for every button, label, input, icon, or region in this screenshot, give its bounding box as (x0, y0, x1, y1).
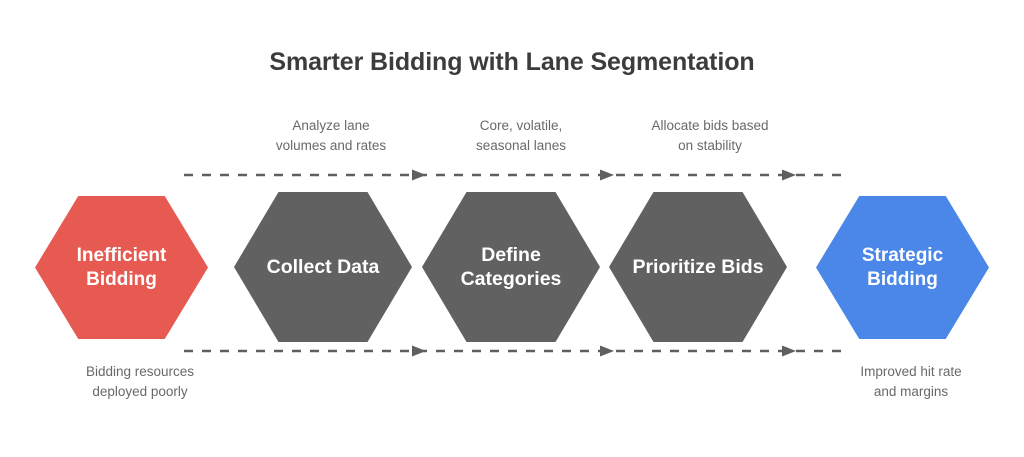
node-label: Define Categories (455, 243, 568, 291)
page-title: Smarter Bidding with Lane Segmentation (0, 48, 1024, 77)
node-label: Prioritize Bids (626, 255, 769, 279)
annotation-allocate-bids-stability: Allocate bids based on stability (610, 116, 810, 155)
annotation-bidding-resources-poorly: Bidding resources deployed poorly (36, 362, 244, 401)
annotation-core-volatile-seasonal: Core, volatile, seasonal lanes (436, 116, 606, 155)
annotation-improved-hit-rate: Improved hit rate and margins (816, 362, 1006, 401)
node-define-categories[interactable]: Define Categories (422, 192, 600, 342)
connector-rail-top (182, 168, 850, 182)
node-strategic-bidding[interactable]: Strategic Bidding (816, 196, 989, 339)
annotation-analyze-lane-volumes: Analyze lane volumes and rates (246, 116, 416, 155)
node-label: Collect Data (261, 255, 386, 279)
node-label: Inefficient Bidding (71, 244, 173, 291)
node-prioritize-bids[interactable]: Prioritize Bids (609, 192, 787, 342)
node-label: Strategic Bidding (856, 244, 949, 291)
connector-rail-bottom (182, 344, 850, 358)
diagram-canvas: Smarter Bidding with Lane Segmentation I… (0, 0, 1024, 457)
node-collect-data[interactable]: Collect Data (234, 192, 412, 342)
node-inefficient-bidding[interactable]: Inefficient Bidding (35, 196, 208, 339)
